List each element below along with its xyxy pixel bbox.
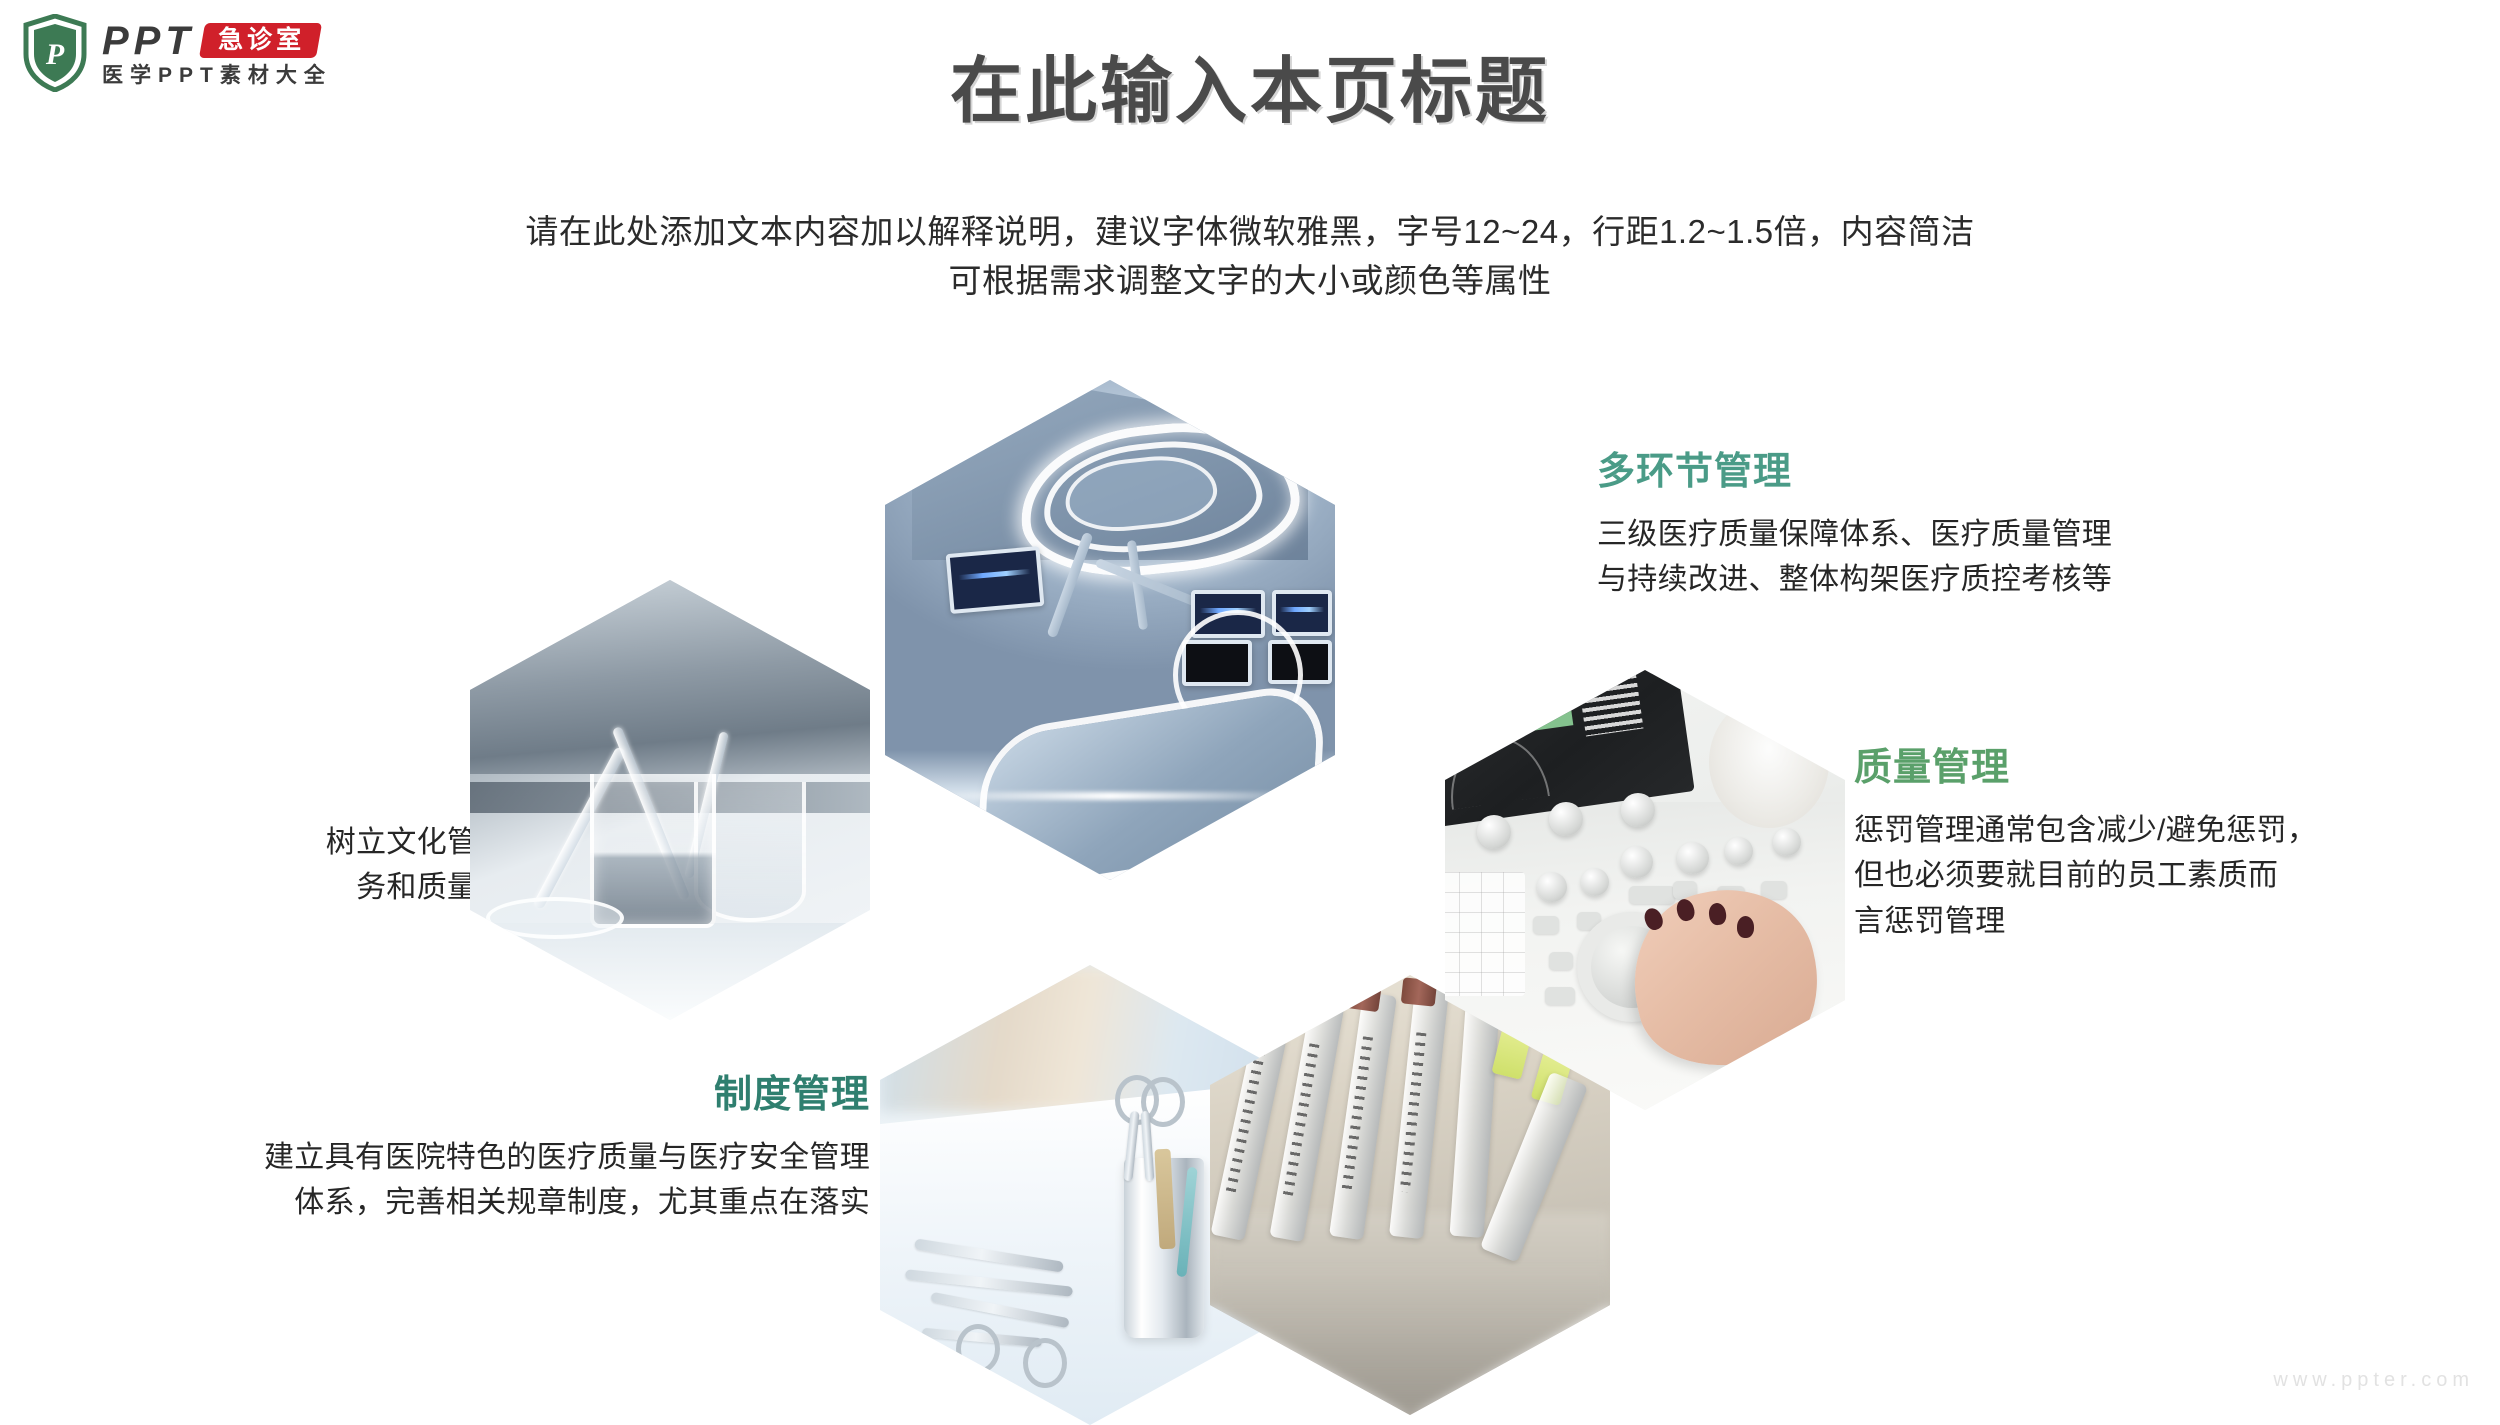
hex-image-operating-room [885, 380, 1335, 880]
body-quality-management: 惩罚管理通常包含减少/避免惩罚， 但也必须要就目前的员工素质而 言惩罚管理 [1854, 808, 2474, 945]
page-subtitle: 请在此处添加文本内容加以解释说明，建议字体微软雅黑，字号12~24，行距1.2~… [0, 208, 2500, 306]
page-title: 在此输入本页标题 [0, 32, 2500, 137]
heading-quality-management: 质量管理 [1854, 748, 2474, 790]
text-block-multilink-management: 多环节管理 三级医疗质量保障体系、医疗质量管理 与持续改进、整体构架医疗质控考核… [1597, 452, 2337, 603]
body-multilink-management: 三级医疗质量保障体系、医疗质量管理 与持续改进、整体构架医疗质控考核等 [1597, 512, 2337, 603]
site-watermark: www.ppter.com [2273, 1369, 2474, 1392]
subtitle-line-2: 可根据需求调整文字的大小或颜色等属性 [0, 257, 2500, 306]
text-block-quality-management: 质量管理 惩罚管理通常包含减少/避免惩罚， 但也必须要就目前的员工素质而 言惩罚… [1854, 748, 2474, 945]
body-system-management: 建立具有医院特色的医疗质量与医疗安全管理 体系，完善相关规章制度，尤其重点在落实 [60, 1135, 870, 1226]
subtitle-line-1: 请在此处添加文本内容加以解释说明，建议字体微软雅黑，字号12~24，行距1.2~… [0, 208, 2500, 257]
hex-image-laboratory-glassware [470, 580, 870, 1020]
text-block-system-management: 制度管理 建立具有医院特色的医疗质量与医疗安全管理 体系，完善相关规章制度，尤其… [60, 1075, 870, 1226]
heading-system-management: 制度管理 [60, 1075, 870, 1117]
heading-multilink-management: 多环节管理 [1597, 452, 2337, 494]
